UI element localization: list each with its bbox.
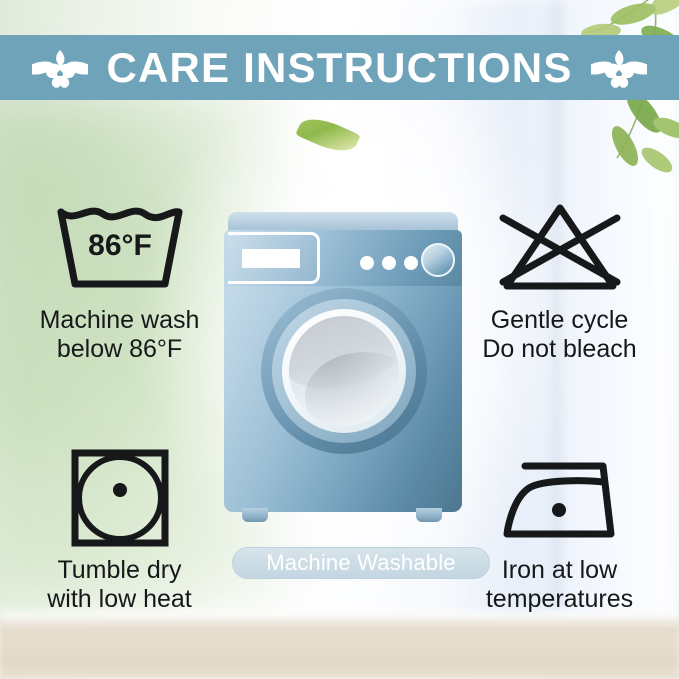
- washer-door-ring: [272, 299, 416, 443]
- status-badge: Machine Washable: [232, 547, 490, 579]
- care-symbol-iron: Iron at low temperatures: [452, 446, 667, 614]
- care-symbol-machine-wash: 86°F Machine wash below 86°F: [12, 196, 227, 364]
- wash-tub-icon: 86°F: [45, 196, 195, 300]
- status-badge-label: Machine Washable: [266, 552, 455, 574]
- fleur-de-lis-icon: [591, 46, 647, 90]
- washer-button-1[interactable]: [360, 256, 374, 270]
- care-symbol-do-not-bleach: Gentle cycle Do not bleach: [452, 196, 667, 364]
- iron-icon: [485, 446, 635, 550]
- washer-door-rim: [282, 309, 406, 433]
- leaf-icon: [298, 122, 358, 148]
- tumble-dry-square-circle-icon: [45, 446, 195, 550]
- front-load-washing-machine: [224, 212, 462, 530]
- fleur-de-lis-icon: [32, 46, 88, 90]
- care-symbol-caption: Gentle cycle Do not bleach: [482, 306, 636, 364]
- washer-foot-right: [416, 508, 442, 522]
- wash-temperature-value: 86°F: [88, 229, 152, 262]
- detergent-slot: [242, 249, 300, 268]
- background-table-grain: [0, 621, 679, 679]
- washer-door-glass: [289, 316, 399, 426]
- control-knob[interactable]: [421, 243, 455, 277]
- washer-foot-left: [242, 508, 268, 522]
- detergent-drawer: [228, 232, 320, 284]
- care-instructions-poster: CARE INSTRUCTIONS 86°F Machine wash belo…: [0, 0, 679, 679]
- page-title: CARE INSTRUCTIONS: [106, 47, 572, 89]
- washer-button-2[interactable]: [382, 256, 396, 270]
- washer-button-3[interactable]: [404, 256, 418, 270]
- care-symbol-tumble-dry: Tumble dry with low heat: [12, 446, 227, 614]
- washer-door[interactable]: [261, 288, 427, 454]
- header-banner: CARE INSTRUCTIONS: [0, 35, 679, 100]
- care-symbol-caption: Iron at low temperatures: [486, 556, 633, 614]
- care-symbol-caption: Tumble dry with low heat: [47, 556, 192, 614]
- care-symbol-caption: Machine wash below 86°F: [40, 306, 200, 364]
- triangle-crossed-out-icon: [485, 196, 635, 300]
